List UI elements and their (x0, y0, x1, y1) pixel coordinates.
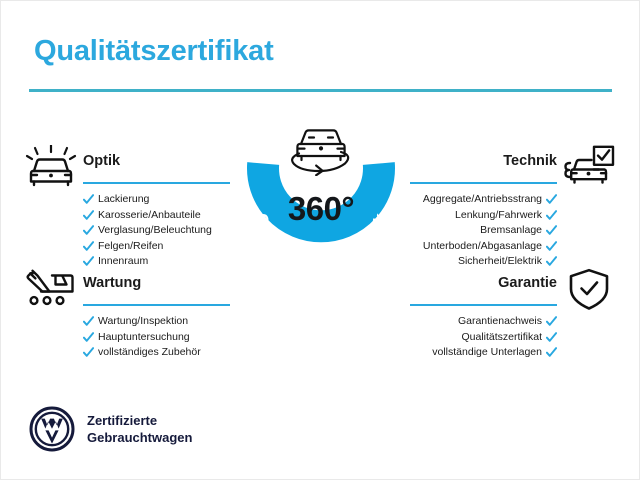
car-rotate-icon (283, 122, 359, 176)
list-item-label: vollständige Unterlagen (432, 345, 542, 361)
section-wartung: Wartung Wartung/Inspektion Hauptuntersuc… (25, 273, 230, 361)
section-technik-list: Aggregate/Antriebsstrang Lenkung/Fahrwer… (410, 192, 615, 270)
check-icon (83, 225, 94, 236)
list-item: Felgen/Reifen (83, 239, 230, 255)
list-item-label: Unterboden/Abgasanlage (423, 239, 542, 255)
section-garantie-divider (410, 304, 557, 306)
check-icon (83, 332, 94, 343)
section-technik-title: Technik (410, 151, 557, 171)
check-icon (546, 241, 557, 252)
list-item: Garantienachweis (410, 314, 557, 330)
list-item-label: Hauptuntersuchung (98, 330, 190, 346)
list-item: Wartung/Inspektion (83, 314, 230, 330)
list-item-label: vollständiges Zubehör (98, 345, 201, 361)
list-item: vollständige Unterlagen (410, 345, 557, 361)
section-optik-divider (83, 182, 230, 184)
check-icon (546, 210, 557, 221)
check-icon (83, 194, 94, 205)
section-garantie-header: Garantie (410, 273, 615, 301)
list-item: Hauptuntersuchung (83, 330, 230, 346)
list-item-label: Karosserie/Anbauteile (98, 208, 201, 224)
check-icon (83, 347, 94, 358)
list-item-label: Qualitätszertifikat (461, 330, 542, 346)
list-item-label: Lackierung (98, 192, 149, 208)
list-item: Bremsanlage (410, 223, 557, 239)
section-optik-title: Optik (83, 151, 230, 171)
list-item-label: Lenkung/Fahrwerk (455, 208, 542, 224)
section-garantie-list: Garantienachweis Qualitätszertifikat vol… (410, 314, 615, 361)
section-wartung-title: Wartung (83, 273, 230, 293)
vw-footer-line2: Gebrauchtwagen (87, 429, 192, 446)
list-item: Verglasung/Beleuchtung (83, 223, 230, 239)
list-item: Karosserie/Anbauteile (83, 208, 230, 224)
section-wartung-header: Wartung (25, 273, 230, 301)
section-garantie-title: Garantie (410, 273, 557, 293)
check-icon (546, 316, 557, 327)
section-garantie: Garantie Garantienachweis Qualitätszerti… (410, 273, 615, 361)
section-technik-divider (410, 182, 557, 184)
list-item: Unterboden/Abgasanlage (410, 239, 557, 255)
list-item: Sicherheit/Elektrik (410, 254, 557, 270)
check-icon (546, 347, 557, 358)
check-icon (546, 225, 557, 236)
section-technik-header: Technik (410, 151, 615, 179)
check-icon (546, 332, 557, 343)
check-icon (546, 194, 557, 205)
header-divider (29, 89, 612, 92)
section-optik-header: Optik (25, 151, 230, 179)
list-item: Lenkung/Fahrwerk (410, 208, 557, 224)
list-item-label: Sicherheit/Elektrik (458, 254, 542, 270)
qualitaetszertifikat-page: Qualitätszertifikat (0, 0, 640, 480)
section-wartung-divider (83, 304, 230, 306)
section-optik-list: Lackierung Karosserie/Anbauteile Verglas… (25, 192, 230, 270)
list-item-label: Garantienachweis (458, 314, 542, 330)
list-item: Qualitätszertifikat (410, 330, 557, 346)
badge-360-gebrauchtwagen-check: Gebrauchtwagen-Check 360° (233, 121, 409, 297)
list-item-label: Wartung/Inspektion (98, 314, 188, 330)
vw-logo (29, 406, 75, 452)
section-technik: Technik Aggregate/Antriebsstrang Lenkung… (410, 151, 615, 270)
check-icon (83, 210, 94, 221)
check-icon (83, 316, 94, 327)
list-item-label: Bremsanlage (480, 223, 542, 239)
list-item: Lackierung (83, 192, 230, 208)
list-item-label: Felgen/Reifen (98, 239, 163, 255)
list-item: Innenraum (83, 254, 230, 270)
vw-footer-text: Zertifizierte Gebrauchtwagen (87, 412, 192, 446)
list-item: vollständiges Zubehör (83, 345, 230, 361)
list-item-label: Innenraum (98, 254, 148, 270)
page-title: Qualitätszertifikat (34, 35, 274, 68)
section-wartung-list: Wartung/Inspektion Hauptuntersuchung vol… (25, 314, 230, 361)
check-icon (83, 256, 94, 267)
vw-certified-footer: Zertifizierte Gebrauchtwagen (29, 406, 192, 452)
check-icon (83, 241, 94, 252)
section-optik: Optik Lackierung Karosserie/Anbauteile (25, 151, 230, 270)
list-item: Aggregate/Antriebsstrang (410, 192, 557, 208)
list-item-label: Verglasung/Beleuchtung (98, 223, 212, 239)
vw-footer-line1: Zertifizierte (87, 412, 192, 429)
check-icon (546, 256, 557, 267)
list-item-label: Aggregate/Antriebsstrang (423, 192, 542, 208)
